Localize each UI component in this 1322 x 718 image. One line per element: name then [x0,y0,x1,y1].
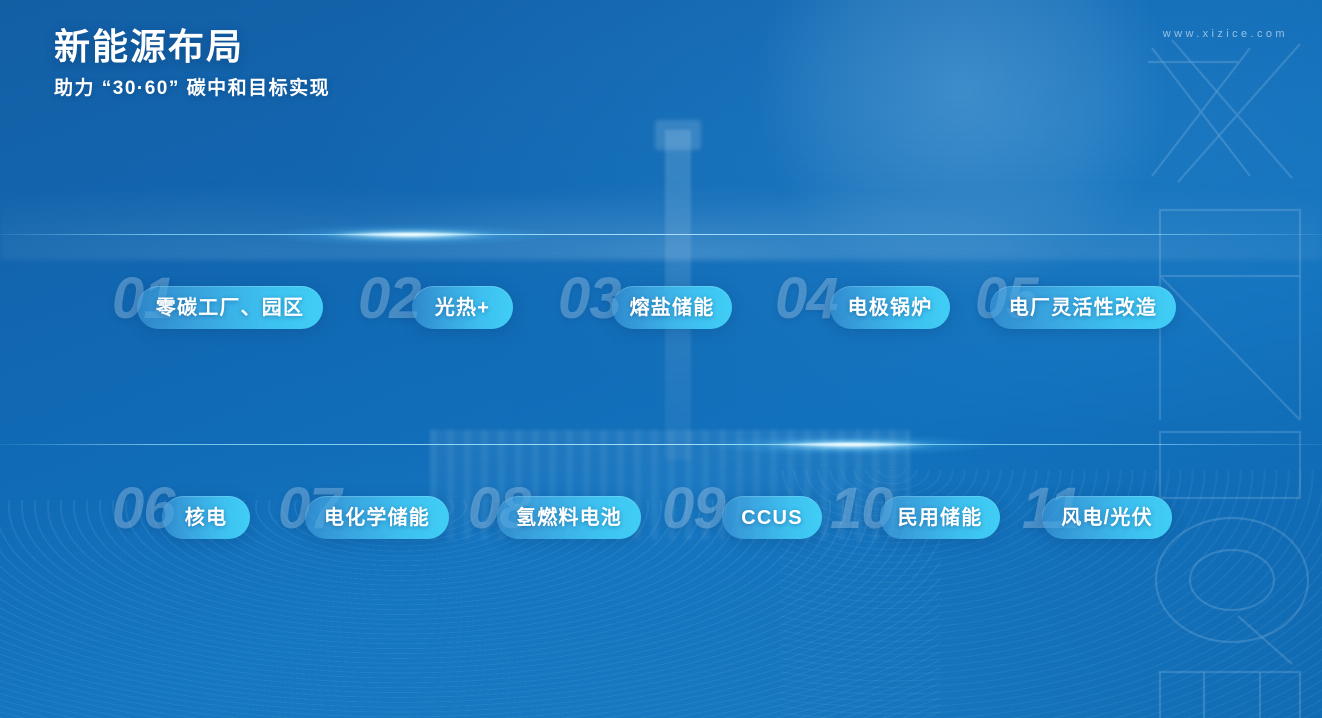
category-pill-label: 核电 [185,508,227,528]
category-number: 02 [358,270,421,328]
category-pill-label: 零碳工厂、园区 [156,298,304,318]
category-pill[interactable]: 电厂灵活性改造 [990,286,1176,329]
category-pill-label: 风电/光伏 [1061,508,1153,528]
divider-line-bottom [0,443,1322,446]
category-pill[interactable]: 电极锅炉 [830,286,950,329]
tower-top-decoration [655,120,701,150]
category-pill[interactable]: 风电/光伏 [1042,496,1172,539]
category-pill[interactable]: CCUS [722,496,822,539]
page-subtitle: 助力 “30·60” 碳中和目标实现 [54,77,330,102]
header-block: 新能源布局 助力 “30·60” 碳中和目标实现 [54,24,330,102]
divider-line-top [0,233,1322,236]
mountain-silhouette [0,150,1322,260]
slide-root: 新能源布局 助力 “30·60” 碳中和目标实现 www.xizice.com … [0,0,1322,718]
divider-glow-core [335,232,485,237]
category-pill-label: 民用储能 [898,508,983,528]
divider-glow-core [775,442,925,447]
category-pill-label: 氢燃料电池 [516,508,622,528]
divider-line [0,234,1322,235]
category-pill[interactable]: 零碳工厂、园区 [137,286,323,329]
category-pill-label: 电极锅炉 [848,298,933,318]
category-pill-label: 光热+ [435,298,490,318]
category-pill[interactable]: 光热+ [412,286,513,329]
category-number: 03 [558,270,621,328]
category-pill-label: 电厂灵活性改造 [1009,298,1157,318]
category-row-bottom: 06核电07电化学储能08氢燃料电池09CCUS10民用储能11风电/光伏 [0,482,1322,572]
category-pill[interactable]: 核电 [162,496,250,539]
category-number: 04 [775,270,838,328]
page-title: 新能源布局 [54,24,330,69]
category-pill-label: 电化学储能 [324,508,430,528]
category-pill[interactable]: 民用储能 [880,496,1000,539]
category-pill-label: CCUS [741,508,802,528]
category-pill[interactable]: 氢燃料电池 [497,496,641,539]
divider-line [0,444,1322,445]
sun-glow-decoration [752,0,1172,300]
category-row-top: 01零碳工厂、园区02光热+03熔盐储能04电极锅炉05电厂灵活性改造 [0,272,1322,362]
category-pill[interactable]: 电化学储能 [305,496,449,539]
site-url-watermark: www.xizice.com [1163,28,1288,40]
category-number: 09 [662,480,725,538]
category-pill-label: 熔盐储能 [630,298,715,318]
category-pill[interactable]: 熔盐储能 [612,286,732,329]
